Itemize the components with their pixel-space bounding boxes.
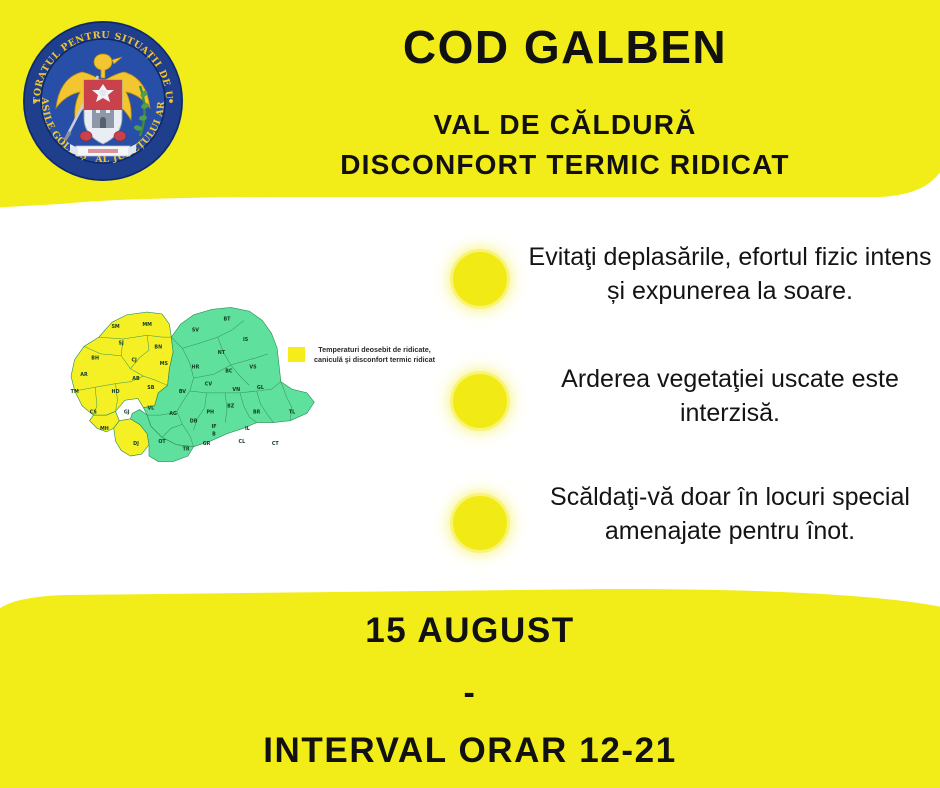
- alert-poster: INSPECTORATUL PENTRU SITUAȚII DE URGENȚĂ…: [0, 0, 940, 788]
- svg-text:CJ: CJ: [131, 357, 137, 363]
- svg-text:GL: GL: [257, 385, 264, 391]
- advice-bullet-cell: [434, 473, 526, 573]
- header-subtitle-line2: DISCONFORT TERMIC RIDICAT: [215, 148, 915, 182]
- svg-text:SB: SB: [147, 385, 154, 391]
- svg-text:TR: TR: [183, 446, 190, 452]
- svg-text:DJ: DJ: [133, 441, 139, 447]
- svg-text:GR: GR: [203, 441, 211, 447]
- legend-label: Temperaturi deosebit de ridicate, canicu…: [312, 345, 437, 366]
- advice-item: Arderea vegetaţiei uscate este interzisă…: [434, 351, 934, 451]
- advice-text: Arderea vegetaţiei uscate este interzisă…: [526, 351, 934, 430]
- isu-emblem-icon: INSPECTORATUL PENTRU SITUAȚII DE URGENȚĂ…: [22, 20, 184, 182]
- page-title: COD GALBEN: [215, 22, 915, 74]
- svg-text:IL: IL: [245, 426, 250, 432]
- footer-interval: INTERVAL ORAR 12-21: [0, 732, 940, 771]
- svg-text:TM: TM: [71, 389, 79, 395]
- svg-text:GJ: GJ: [124, 409, 130, 415]
- advice-text: Scăldaţi-vă doar în locuri special amena…: [526, 473, 934, 548]
- svg-text:MH: MH: [100, 426, 109, 432]
- svg-text:BV: BV: [179, 389, 186, 395]
- svg-text:VL: VL: [147, 406, 154, 412]
- svg-text:BZ: BZ: [227, 404, 235, 410]
- advice-list: Evitaţi deplasările, efortul fizic inten…: [434, 229, 934, 573]
- svg-text:BR: BR: [253, 409, 261, 415]
- svg-text:OT: OT: [158, 439, 166, 445]
- svg-text:BH: BH: [91, 355, 99, 361]
- header-subtitle-line1: VAL DE CĂLDURĂ: [215, 108, 915, 142]
- svg-text:SM: SM: [111, 324, 119, 330]
- svg-text:PH: PH: [207, 409, 215, 415]
- svg-text:SJ: SJ: [119, 341, 124, 347]
- sun-dot-icon: [453, 374, 507, 428]
- emblem: INSPECTORATUL PENTRU SITUAȚII DE URGENȚĂ…: [22, 20, 184, 182]
- svg-text:SV: SV: [192, 328, 199, 334]
- main-content: SMMMBT SVSJBN ISBHCJ NTMSHR VSARAB BCTMH…: [0, 215, 940, 593]
- advice-bullet-cell: [434, 351, 526, 451]
- svg-text:IS: IS: [243, 337, 249, 343]
- sun-dot-icon: [453, 252, 507, 306]
- svg-text:AR: AR: [80, 372, 88, 378]
- legend-swatch-yellow: [288, 347, 305, 362]
- romania-map-icon: SMMMBT SVSJBN ISBHCJ NTMSHR VSARAB BCTMH…: [58, 277, 318, 492]
- svg-text:HD: HD: [112, 389, 120, 395]
- svg-text:CL: CL: [239, 439, 246, 445]
- sun-dot-icon: [453, 496, 507, 550]
- advice-text: Evitaţi deplasările, efortul fizic inten…: [526, 229, 934, 308]
- svg-text:AG: AG: [169, 411, 177, 417]
- svg-text:CS: CS: [90, 409, 98, 415]
- svg-text:B: B: [212, 432, 216, 438]
- advice-item: Scăldaţi-vă doar în locuri special amena…: [434, 473, 934, 573]
- svg-text:AB: AB: [132, 376, 140, 382]
- svg-text:DB: DB: [190, 419, 198, 425]
- advice-item: Evitaţi deplasările, efortul fizic inten…: [434, 229, 934, 329]
- svg-text:HR: HR: [192, 365, 200, 371]
- footer-text: 15 AUGUST - INTERVAL ORAR 12-21: [0, 600, 940, 770]
- map-legend: Temperaturi deosebit de ridicate, canicu…: [288, 345, 438, 366]
- svg-text:CT: CT: [272, 441, 280, 447]
- svg-text:NT: NT: [218, 350, 226, 356]
- svg-text:BT: BT: [224, 316, 232, 322]
- svg-text:CV: CV: [205, 381, 213, 387]
- romania-warning-map: SMMMBT SVSJBN ISBHCJ NTMSHR VSARAB BCTMH…: [58, 277, 318, 492]
- header-text: COD GALBEN VAL DE CĂLDURĂ DISCONFORT TER…: [215, 22, 915, 182]
- footer-date: 15 AUGUST: [0, 600, 940, 651]
- svg-text:MS: MS: [160, 361, 169, 367]
- svg-text:IF: IF: [211, 424, 216, 430]
- svg-text:TL: TL: [289, 409, 295, 415]
- svg-text:MM: MM: [142, 322, 152, 328]
- svg-text:BN: BN: [154, 344, 162, 350]
- svg-text:VN: VN: [232, 387, 240, 393]
- advice-bullet-cell: [434, 229, 526, 329]
- svg-text:BC: BC: [225, 368, 233, 374]
- footer-separator: -: [0, 675, 940, 712]
- svg-text:VS: VS: [249, 365, 257, 371]
